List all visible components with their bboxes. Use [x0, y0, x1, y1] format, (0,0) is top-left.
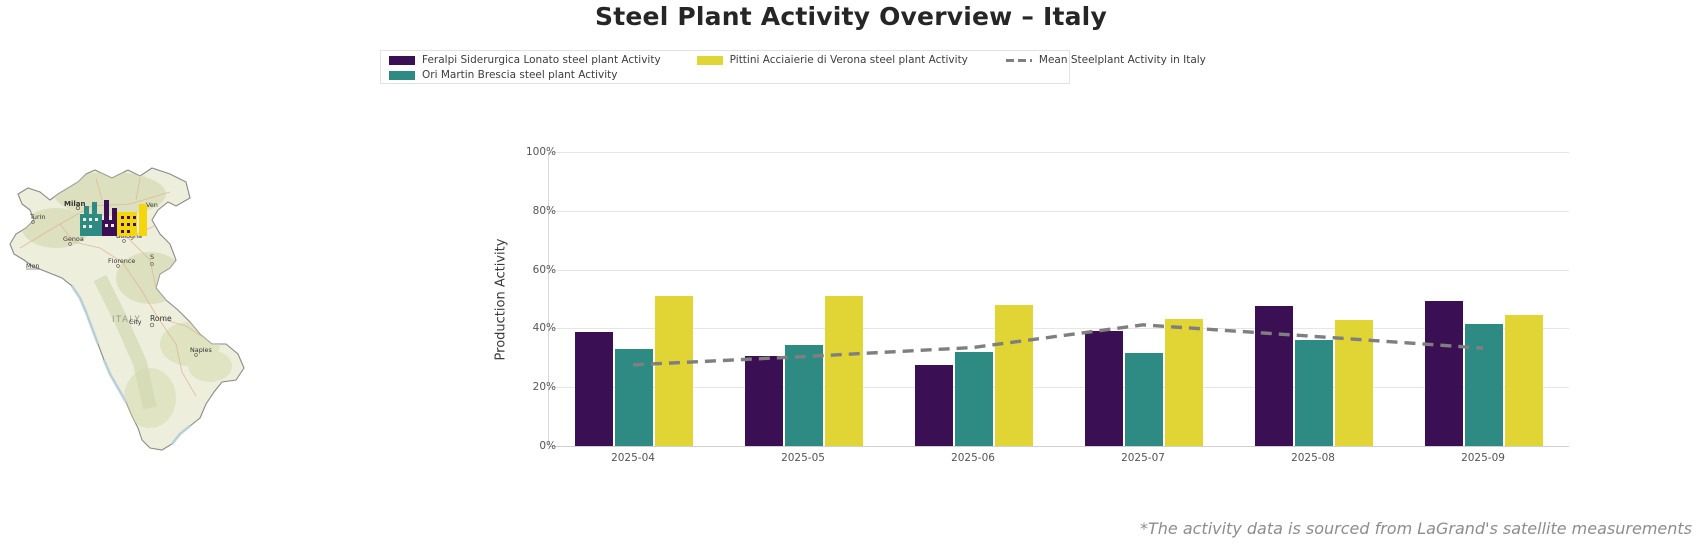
city-label-rome: Rome — [150, 314, 172, 323]
legend-row-2: Ori Martin Brescia steel plant Activity — [389, 69, 640, 81]
italy-map-svg: ITALY Milan Turin Genoa Bologna Florence… — [0, 148, 300, 463]
city-label-milan: Milan — [64, 200, 85, 208]
gridline-0 — [549, 446, 1569, 447]
y-tick-0: 0% — [356, 440, 556, 452]
city-label-venice: Ven — [146, 201, 158, 209]
city-label-turin: Turin — [29, 213, 45, 221]
legend-entry-pittini[interactable]: Pittini Acciaierie di Verona steel plant… — [697, 54, 968, 66]
city-label-florence: Florence — [108, 257, 135, 265]
x-tick-2025-08: 2025-08 — [1233, 452, 1393, 464]
chart-legend: Feralpi Siderurgica Lonato steel plant A… — [380, 50, 1070, 84]
city-label-genoa: Genoa — [63, 235, 84, 243]
y-axis-label-text: Production Activity — [494, 238, 509, 360]
y-tick-100: 100% — [356, 146, 556, 158]
x-tick-2025-09: 2025-09 — [1403, 452, 1563, 464]
city-label-city: City — [129, 318, 142, 326]
y-tick-20: 20% — [356, 381, 556, 393]
legend-label-mean: Mean Steelplant Activity in Italy — [1039, 54, 1206, 66]
legend-dash-mean — [1006, 56, 1032, 65]
mean-activity-line — [548, 152, 1568, 446]
data-source-footnote: *The activity data is sourced from LaGra… — [1140, 519, 1692, 538]
mean-line-path — [633, 325, 1483, 365]
x-tick-2025-06: 2025-06 — [893, 452, 1053, 464]
y-tick-60: 60% — [356, 264, 556, 276]
legend-entry-feralpi[interactable]: Feralpi Siderurgica Lonato steel plant A… — [389, 54, 661, 66]
legend-swatch-orimartin — [389, 71, 415, 80]
x-tick-2025-04: 2025-04 — [553, 452, 713, 464]
italy-map[interactable]: ITALY Milan Turin Genoa Bologna Florence… — [0, 148, 300, 463]
legend-entry-orimartin[interactable]: Ori Martin Brescia steel plant Activity — [389, 69, 618, 81]
legend-label-feralpi: Feralpi Siderurgica Lonato steel plant A… — [422, 54, 661, 66]
city-label-san: S — [150, 253, 154, 261]
activity-bar-chart[interactable]: 0%20%40%60%80%100% 2025-042025-052025-06… — [548, 152, 1568, 446]
legend-label-pittini: Pittini Acciaierie di Verona steel plant… — [730, 54, 968, 66]
page-title: Steel Plant Activity Overview – Italy — [0, 2, 1702, 31]
legend-row-1: Feralpi Siderurgica Lonato steel plant A… — [389, 54, 1228, 66]
x-tick-2025-07: 2025-07 — [1063, 452, 1223, 464]
y-tick-80: 80% — [356, 205, 556, 217]
legend-entry-mean[interactable]: Mean Steelplant Activity in Italy — [1006, 54, 1206, 66]
x-tick-2025-05: 2025-05 — [723, 452, 883, 464]
city-label-naples: Naples — [190, 346, 212, 354]
y-axis-label: Production Activity — [492, 152, 510, 446]
legend-label-orimartin: Ori Martin Brescia steel plant Activity — [422, 69, 618, 81]
y-tick-40: 40% — [356, 322, 556, 334]
map-landmass — [10, 168, 244, 450]
legend-swatch-feralpi — [389, 56, 415, 65]
legend-swatch-pittini — [697, 56, 723, 65]
